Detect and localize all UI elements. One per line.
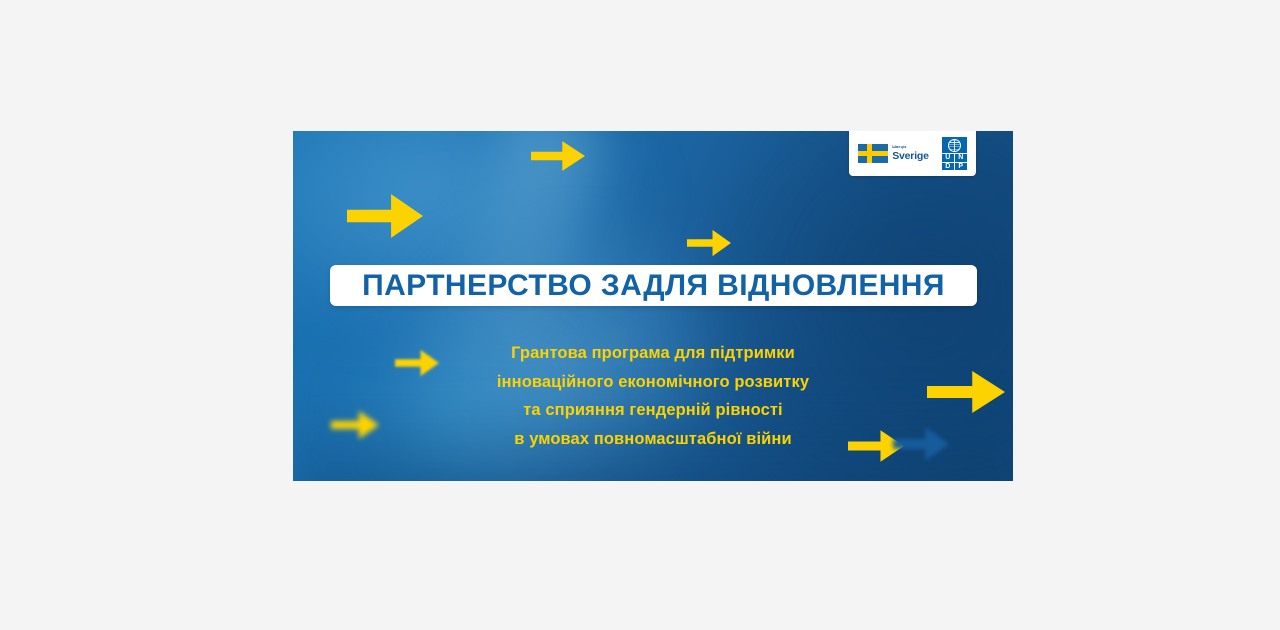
undp-letter-u: U	[942, 154, 954, 162]
subtitle-line-4: в умовах повномасштабної війни	[453, 425, 853, 454]
subtitle-line-1: Грантова програма для підтримки	[453, 339, 853, 368]
arrow-right-4-icon	[395, 348, 439, 378]
arrow-right-3-icon	[687, 228, 731, 258]
sweden-logo: Швеція Sverige	[858, 144, 929, 163]
undp-letters: U N D P	[942, 154, 967, 170]
undp-letter-n: N	[955, 154, 967, 162]
partner-logo-card: Швеція Sverige U N D P	[849, 131, 976, 176]
promo-banner: Швеція Sverige U N D P ПАРТНЕРСТВО ЗАДЛЯ…	[293, 131, 1013, 481]
subtitle-line-3: та сприяння гендерній рівності	[453, 396, 853, 425]
banner-subtitle: Грантова програма для підтримкиінновацій…	[453, 339, 853, 453]
sweden-logo-text: Швеція Sverige	[892, 146, 929, 161]
undp-logo: U N D P	[942, 137, 967, 170]
sweden-label-ua: Швеція	[892, 146, 929, 150]
undp-letter-p: P	[955, 163, 967, 171]
sweden-label-sv: Sverige	[892, 151, 929, 162]
banner-title: ПАРТНЕРСТВО ЗАДЛЯ ВІДНОВЛЕННЯ	[362, 271, 945, 301]
undp-letter-d: D	[942, 163, 954, 171]
title-plate: ПАРТНЕРСТВО ЗАДЛЯ ВІДНОВЛЕННЯ	[330, 265, 977, 306]
sweden-flag-icon	[858, 144, 888, 163]
page-root: Швеція Sverige U N D P ПАРТНЕРСТВО ЗАДЛЯ…	[0, 0, 1280, 630]
subtitle-line-2: інноваційного економічного розвитку	[453, 368, 853, 397]
arrow-right-5-icon	[331, 409, 379, 441]
arrow-right-1-icon	[531, 139, 585, 173]
arrow-ghost-1-icon	[893, 425, 949, 463]
un-globe-icon	[942, 137, 967, 154]
arrow-right-6-icon	[927, 368, 1005, 416]
arrow-right-2-icon	[347, 191, 423, 241]
